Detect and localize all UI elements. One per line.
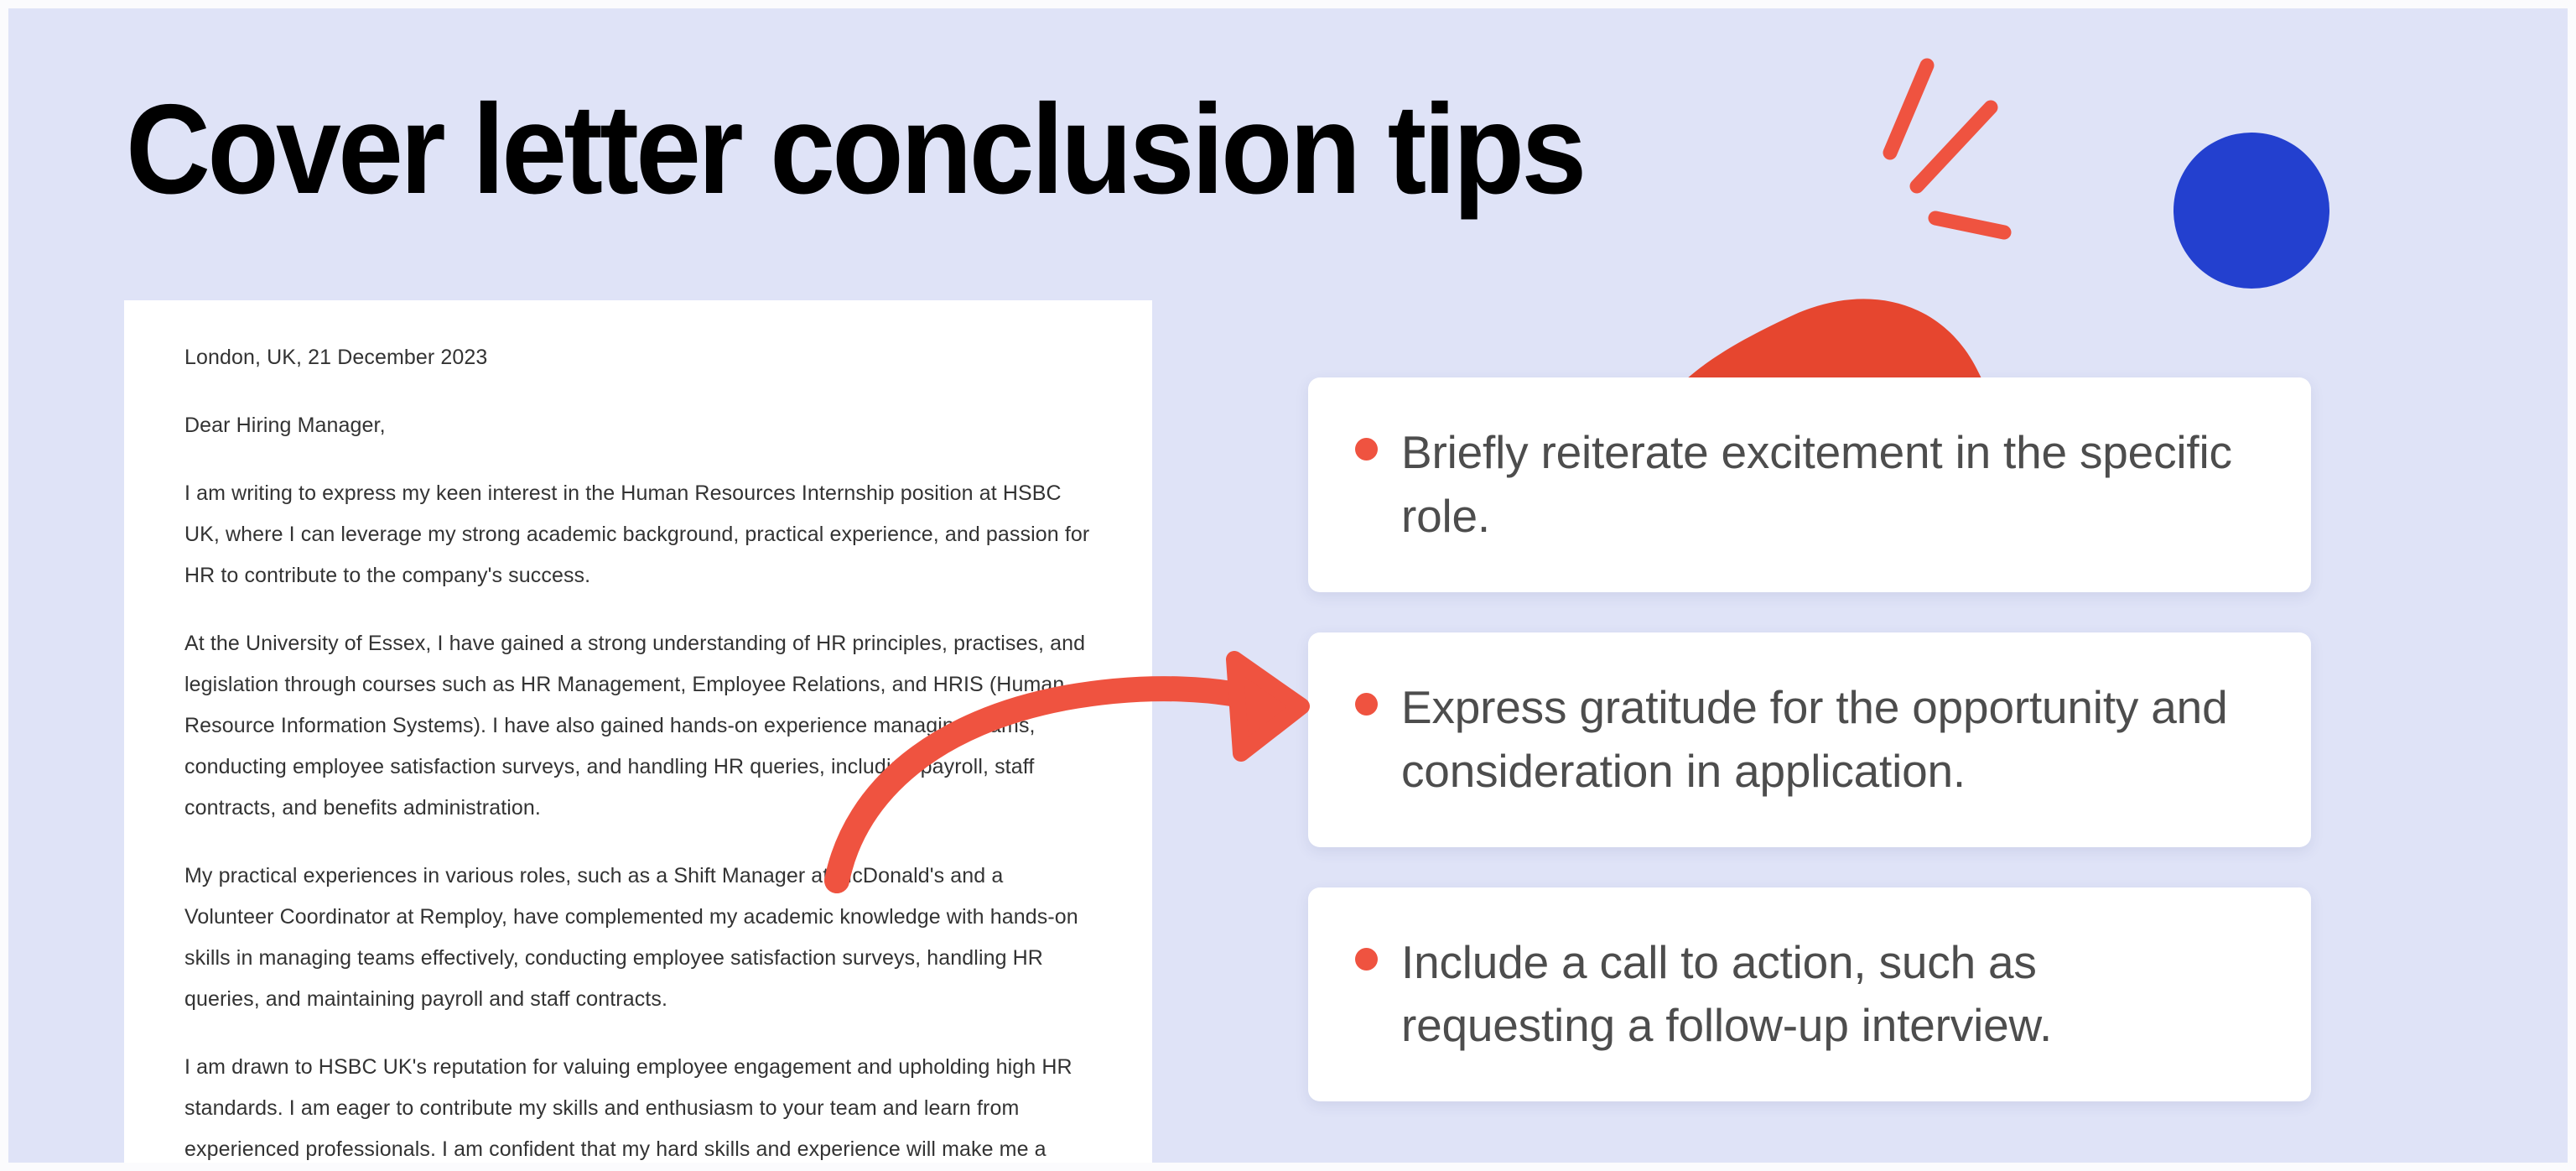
letter-salutation: Dear Hiring Manager, [184,405,1092,446]
tip-card[interactable]: Express gratitude for the opportunity an… [1308,632,2311,847]
tip-card[interactable]: Include a call to action, such as reques… [1308,887,2311,1102]
starburst-lines-icon [1878,50,2063,252]
letter-date-line: London, UK, 21 December 2023 [184,337,1092,378]
bullet-dot-icon [1355,693,1378,716]
letter-paragraph-2: At the University of Essex, I have gaine… [184,623,1092,829]
page-title: Cover letter conclusion tips [126,86,1584,213]
bullet-dot-icon [1355,438,1378,461]
letter-paragraph-3: My practical experiences in various role… [184,856,1092,1020]
tip-card[interactable]: Briefly reiterate excitement in the spec… [1308,377,2311,592]
tip-card-text: Briefly reiterate excitement in the spec… [1401,421,2261,549]
tip-card-text: Include a call to action, such as reques… [1401,931,2261,1059]
letter-paragraph-1: I am writing to express my keen interest… [184,473,1092,596]
letter-paragraph-4: I am drawn to HSBC UK's reputation for v… [184,1047,1092,1171]
bullet-dot-icon [1355,948,1378,971]
tips-list: Briefly reiterate excitement in the spec… [1308,377,2311,1101]
blue-circle-shape [2173,133,2329,289]
cover-letter-document: London, UK, 21 December 2023 Dear Hiring… [124,300,1152,1171]
infographic-canvas: Cover letter conclusion tips London, UK,… [0,0,2576,1171]
tip-card-text: Express gratitude for the opportunity an… [1401,676,2261,804]
